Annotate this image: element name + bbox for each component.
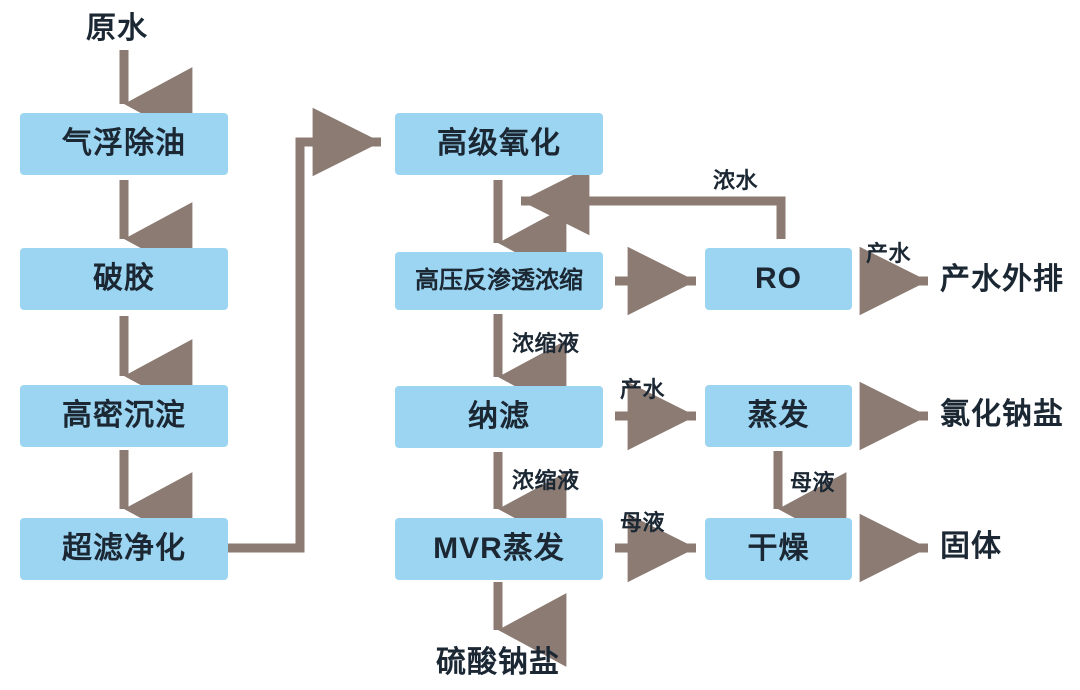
node-ultrafiltration[interactable]: 超滤净化 (20, 518, 228, 580)
node-advanced-oxidation[interactable]: 高级氧化 (395, 113, 603, 175)
node-drying[interactable]: 干燥 (705, 518, 852, 580)
edge-label-mvr-mother-liquor: 母液 (620, 512, 665, 534)
node-mvr-evaporation[interactable]: MVR蒸发 (395, 518, 603, 580)
output-label-solid: 固体 (940, 532, 1002, 562)
arrow-ultrafiltration-to-advanced-oxidation (228, 142, 381, 548)
output-label-permeate-discharge: 产水外排 (940, 265, 1064, 295)
node-demulsification[interactable]: 破胶 (20, 248, 228, 310)
edge-label-ro-concentrate: 浓水 (713, 170, 758, 192)
edge-label-hpro-concentrate: 浓缩液 (512, 333, 580, 355)
node-ro[interactable]: RO (705, 248, 852, 310)
edge-label-ro-permeate: 产水 (866, 243, 911, 265)
node-hp-ro-concentration[interactable]: 高压反渗透浓缩 (395, 252, 603, 310)
edge-label-nf-concentrate: 浓缩液 (512, 470, 580, 492)
node-evaporation[interactable]: 蒸发 (705, 385, 852, 447)
node-nanofiltration[interactable]: 纳滤 (395, 386, 603, 448)
arrow-ro-concentrate-return (521, 201, 781, 239)
flowchart-canvas: 原水 气浮除油 破胶 高密沉淀 超滤净化 高级氧化 高压反渗透浓缩 纳滤 MVR… (0, 0, 1080, 690)
edge-label-evaporator-mother-liquor: 母液 (790, 472, 835, 494)
output-label-sodium-chloride-salt: 氯化钠盐 (940, 400, 1064, 430)
node-air-flotation[interactable]: 气浮除油 (20, 113, 228, 175)
node-high-density-settling[interactable]: 高密沉淀 (20, 385, 228, 447)
edge-label-nf-permeate: 产水 (620, 379, 665, 401)
inlet-label-raw-water: 原水 (86, 14, 148, 44)
output-label-sodium-sulfate-salt: 硫酸钠盐 (436, 648, 560, 678)
